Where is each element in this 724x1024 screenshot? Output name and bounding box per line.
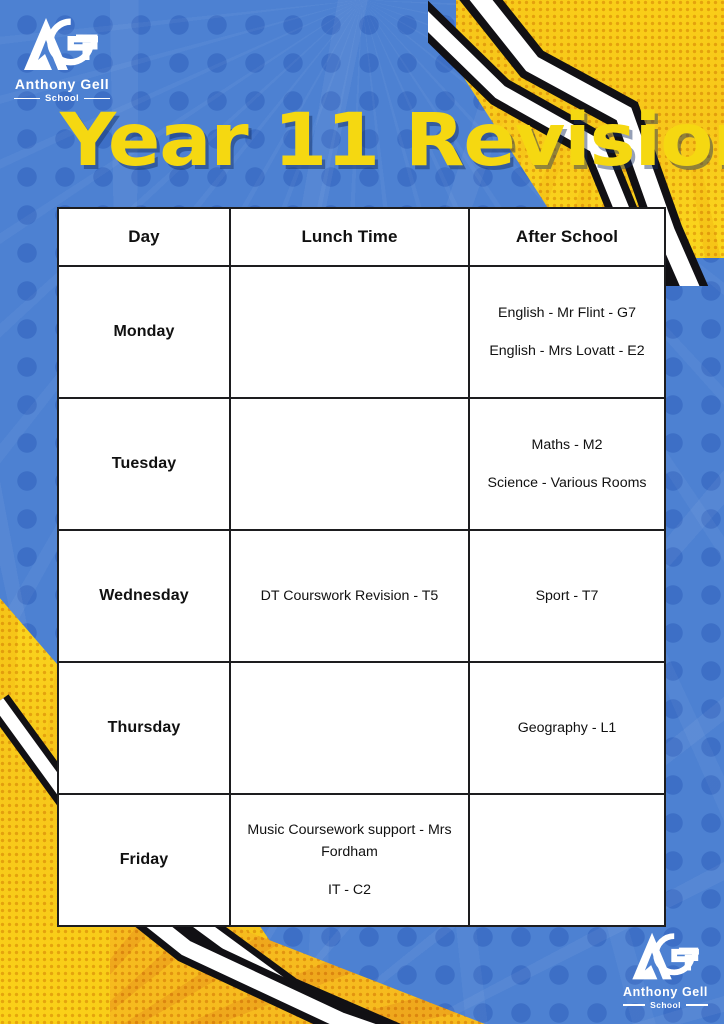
timetable-entry: Maths - M2 (480, 434, 654, 456)
timetable-body: MondayEnglish - Mr Flint - G7English - M… (58, 266, 665, 926)
anthony-gell-monogram-icon-bottom (623, 931, 699, 983)
revision-timetable: Day Lunch Time After School MondayEnglis… (57, 207, 666, 927)
timetable-header-row: Day Lunch Time After School (58, 208, 665, 266)
table-row: ThursdayGeography - L1 (58, 662, 665, 794)
timetable-after-wednesday: Sport - T7 (469, 530, 665, 662)
timetable-lunch-friday: Music Coursework support - Mrs FordhamIT… (230, 794, 469, 926)
timetable-entry: Geography - L1 (480, 717, 654, 739)
timetable-entry: Music Coursework support - Mrs Fordham (241, 819, 458, 863)
timetable-lunch-thursday (230, 662, 469, 794)
table-row: WednesdayDT Courswork Revision - T5Sport… (58, 530, 665, 662)
timetable-day-wednesday: Wednesday (58, 530, 230, 662)
logo-rule-left (14, 98, 40, 100)
timetable-day-thursday: Thursday (58, 662, 230, 794)
column-header-lunch-time: Lunch Time (230, 208, 469, 266)
timetable-entry: DT Courswork Revision - T5 (241, 585, 458, 607)
table-row: TuesdayMaths - M2Science - Various Rooms (58, 398, 665, 530)
column-header-after-school: After School (469, 208, 665, 266)
school-logo-subtitle-bottom: School (650, 1000, 681, 1010)
timetable-after-tuesday: Maths - M2Science - Various Rooms (469, 398, 665, 530)
school-logo-top: Anthony Gell School (14, 16, 110, 104)
school-logo-bottom: Anthony Gell School (623, 931, 708, 1010)
timetable-entry: IT - C2 (241, 879, 458, 901)
timetable-entry: English - Mr Flint - G7 (480, 302, 654, 324)
timetable-head: Day Lunch Time After School (58, 208, 665, 266)
table-row: FridayMusic Coursework support - Mrs For… (58, 794, 665, 926)
timetable-day-monday: Monday (58, 266, 230, 398)
timetable-entry: Science - Various Rooms (480, 472, 654, 494)
column-header-day: Day (58, 208, 230, 266)
timetable-after-monday: English - Mr Flint - G7English - Mrs Lov… (469, 266, 665, 398)
timetable-day-tuesday: Tuesday (58, 398, 230, 530)
page-title: Year 11 Revision (60, 104, 724, 177)
school-logo-name-bottom: Anthony Gell (623, 985, 708, 999)
anthony-gell-monogram-icon (14, 16, 98, 74)
timetable-lunch-tuesday (230, 398, 469, 530)
timetable-after-friday (469, 794, 665, 926)
table-row: MondayEnglish - Mr Flint - G7English - M… (58, 266, 665, 398)
school-logo-name: Anthony Gell (14, 76, 110, 92)
timetable-lunch-monday (230, 266, 469, 398)
timetable-entry: English - Mrs Lovatt - E2 (480, 340, 654, 362)
timetable-day-friday: Friday (58, 794, 230, 926)
timetable-lunch-wednesday: DT Courswork Revision - T5 (230, 530, 469, 662)
timetable-after-thursday: Geography - L1 (469, 662, 665, 794)
timetable-entry: Sport - T7 (480, 585, 654, 607)
logo-rule-right-bottom (686, 1004, 708, 1006)
poster-canvas: Anthony Gell School Year 11 Revision Day… (0, 0, 724, 1024)
school-logo-subtitle-row-bottom: School (623, 1000, 708, 1010)
logo-rule-left-bottom (623, 1004, 645, 1006)
